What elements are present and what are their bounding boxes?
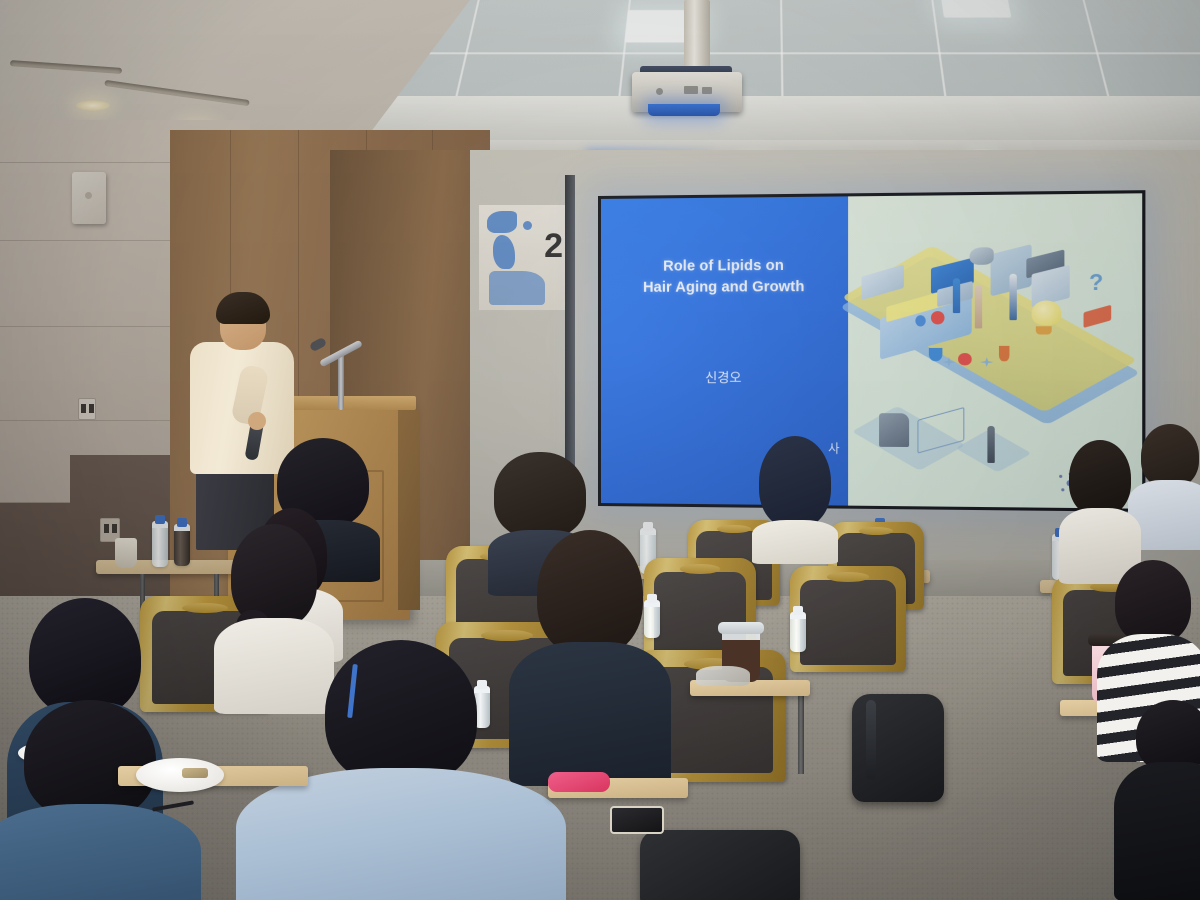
water-bottle	[790, 612, 806, 652]
gooseneck-mic-stand	[338, 352, 344, 410]
iso-question-mark-icon: ?	[1089, 270, 1103, 297]
list-item	[752, 436, 838, 556]
projector-lens	[648, 104, 720, 116]
water-bottle	[152, 521, 168, 567]
event-banner: 2	[479, 205, 565, 310]
slide-title: Role of Lipids on Hair Aging and Growth	[643, 256, 804, 299]
iso-person-blue-sitting	[953, 278, 960, 313]
pink-pencil-pouch	[548, 772, 610, 792]
backpack-strap	[866, 700, 876, 780]
audience-head	[1069, 440, 1131, 516]
iso-microscope-icon	[880, 413, 909, 447]
audience-torso	[236, 768, 566, 900]
iso-person-presenting	[988, 426, 995, 464]
projector-port-1	[684, 86, 698, 94]
iso-lightbulb-icon	[1032, 301, 1062, 326]
wrapped-snack	[696, 666, 750, 686]
table-leg	[798, 694, 804, 774]
ceiling-downlight-1	[76, 100, 110, 111]
audience-head	[1141, 424, 1199, 488]
projector-port-2	[702, 87, 712, 94]
wall-speaker	[72, 172, 106, 224]
bottle-cap	[155, 515, 165, 524]
presenter-hair	[216, 292, 270, 324]
audience-head	[537, 530, 643, 656]
audience-head	[759, 436, 831, 528]
audience-head	[1115, 560, 1191, 644]
iso-flask-3	[999, 346, 1010, 361]
bottle-cap	[793, 606, 803, 615]
plate-snack	[182, 768, 208, 778]
iso-flask-2	[958, 353, 971, 365]
banner-number: 2	[544, 229, 563, 263]
audience-head	[29, 598, 141, 716]
iso-flask-1	[929, 348, 942, 361]
iso-person-lab-coat	[1010, 274, 1017, 321]
projector-mount-pole	[684, 0, 710, 76]
list-item	[0, 700, 200, 900]
presenter-hand	[248, 412, 266, 430]
audience-head	[24, 700, 156, 820]
iso-bulb-base	[1036, 326, 1052, 334]
chair	[790, 566, 906, 672]
podium-side-panel	[398, 410, 420, 610]
iced-coffee-lid	[718, 622, 764, 634]
audience-torso	[752, 520, 838, 564]
projector-knob	[656, 88, 663, 95]
paper-coffee-cup	[115, 538, 137, 568]
slide-title-line-2: Hair Aging and Growth	[643, 277, 804, 299]
iso-person-standing-center	[975, 286, 982, 329]
slide-title-line-1: Role of Lipids on	[643, 256, 804, 278]
list-item	[1060, 440, 1140, 580]
slide-presenter-name: 신경오	[705, 367, 741, 386]
isometric-lab-illustration: ?	[859, 219, 1130, 414]
audience-torso	[1114, 762, 1200, 900]
list-item	[1118, 700, 1200, 900]
backpack	[640, 830, 800, 900]
iso-centrifuge	[969, 247, 993, 265]
iso-red-box	[1083, 305, 1110, 328]
white-plate	[136, 758, 224, 792]
wall-outlet-upper	[78, 398, 96, 420]
ceiling-panel-light-2	[941, 0, 1012, 18]
audience-head	[494, 452, 586, 538]
smartphone	[610, 806, 664, 834]
conference-room-photo: 2 Role of Lipids on Hair Aging and Growt…	[0, 0, 1200, 900]
audience-torso	[0, 804, 201, 900]
